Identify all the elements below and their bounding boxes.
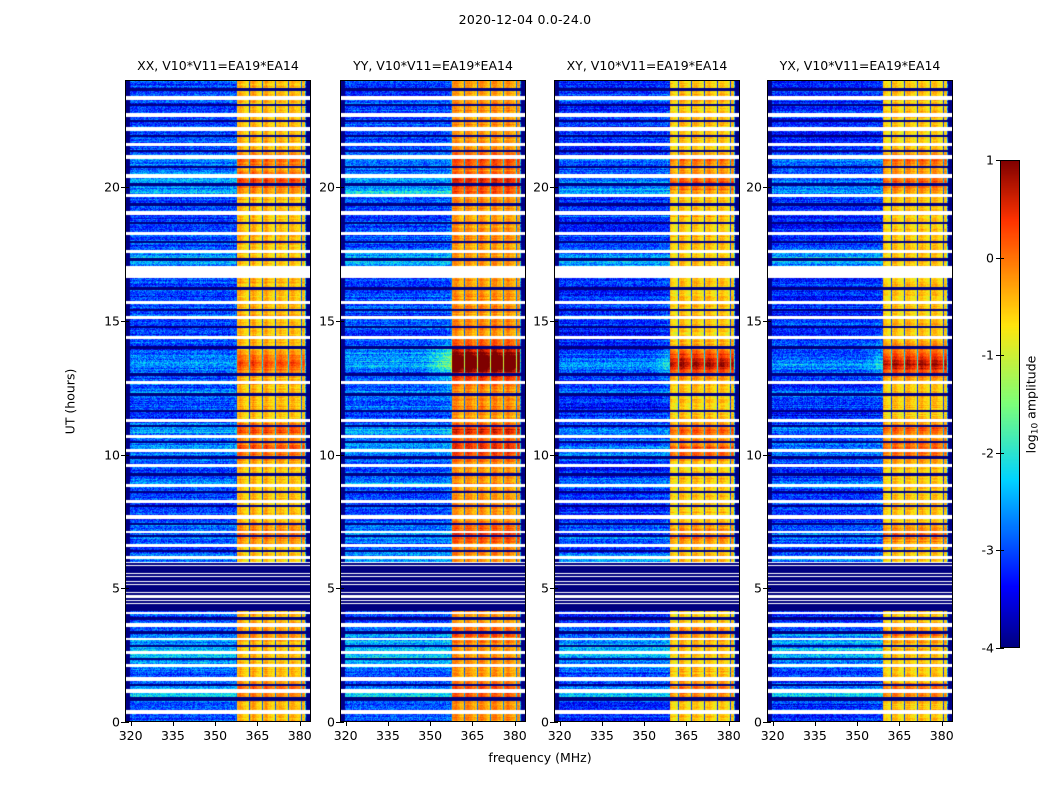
colorbar-tick-mark-inner (1000, 453, 1004, 454)
y-tick-mark-inner (767, 187, 771, 188)
x-tick-label: 365 (675, 728, 699, 743)
y-tick-mark-inner (767, 321, 771, 322)
y-tick-mark-inner (554, 722, 558, 723)
y-tick-mark-inner (125, 588, 129, 589)
heatmap-panel-xy[interactable]: XY, V10*V11=EA19*EA140510152032033535036… (554, 80, 740, 722)
y-tick-label: 15 (319, 313, 335, 328)
y-tick-label: 5 (754, 581, 762, 596)
y-tick-mark-inner (340, 722, 344, 723)
colorbar-tick-mark-inner (1000, 550, 1004, 551)
x-tick-label: 350 (632, 728, 656, 743)
colorbar-tick-label: -1 (982, 348, 994, 363)
y-tick-mark-inner (767, 722, 771, 723)
x-tick-label: 350 (203, 728, 227, 743)
y-tick-mark-inner (340, 455, 344, 456)
x-tick-mark (346, 722, 347, 726)
axes-frame-xy (554, 80, 740, 722)
x-tick-label: 320 (761, 728, 785, 743)
y-tick-label: 5 (112, 581, 120, 596)
x-tick-mark (215, 722, 216, 726)
x-tick-mark (942, 722, 943, 726)
x-tick-mark (472, 722, 473, 726)
x-tick-label: 335 (803, 728, 827, 743)
y-tick-mark-inner (767, 455, 771, 456)
axes-frame-yy (340, 80, 526, 722)
colorbar-tick-label: -3 (982, 543, 994, 558)
y-tick-mark-inner (340, 588, 344, 589)
panel-title-xy: XY, V10*V11=EA19*EA14 (567, 58, 728, 73)
x-tick-mark (773, 722, 774, 726)
y-tick-label: 20 (746, 180, 762, 195)
y-tick-mark-inner (767, 588, 771, 589)
colorbar[interactable]: -4-3-2-101 (1000, 160, 1020, 648)
y-tick-label: 10 (533, 447, 549, 462)
y-tick-label: 15 (104, 313, 120, 328)
x-tick-mark (388, 722, 389, 726)
x-tick-mark (560, 722, 561, 726)
colorbar-label-post: amplitude (1023, 355, 1038, 422)
axes-frame-xx (125, 80, 311, 722)
axes-frame-yx (767, 80, 953, 722)
y-tick-label: 15 (533, 313, 549, 328)
colorbar-tick-label: 0 (986, 250, 994, 265)
x-tick-mark (899, 722, 900, 726)
y-tick-label: 5 (541, 581, 549, 596)
x-tick-label: 320 (548, 728, 572, 743)
y-tick-mark-inner (554, 588, 558, 589)
x-tick-label: 335 (376, 728, 400, 743)
y-tick-mark-inner (554, 187, 558, 188)
x-tick-label: 365 (461, 728, 485, 743)
x-tick-label: 320 (334, 728, 358, 743)
x-tick-label: 365 (246, 728, 270, 743)
colorbar-tick-label: -4 (982, 641, 994, 656)
colorbar-label-subscript: 10 (1030, 422, 1040, 433)
heatmap-panel-xx[interactable]: XX, V10*V11=EA19*EA140510152032033535036… (125, 80, 311, 722)
heatmap-panel-yx[interactable]: YX, V10*V11=EA19*EA140510152032033535036… (767, 80, 953, 722)
x-tick-mark (300, 722, 301, 726)
colorbar-tick-mark-inner (1000, 648, 1004, 649)
y-axis-label: UT (hours) (62, 368, 77, 434)
x-tick-mark (430, 722, 431, 726)
x-tick-mark (515, 722, 516, 726)
colorbar-label: log10 amplitude (1023, 355, 1040, 453)
x-axis-label: frequency (MHz) (488, 750, 591, 765)
x-tick-mark (686, 722, 687, 726)
x-tick-label: 380 (930, 728, 954, 743)
y-tick-label: 10 (319, 447, 335, 462)
heatmap-panel-yy[interactable]: YY, V10*V11=EA19*EA140510152032033535036… (340, 80, 526, 722)
y-tick-mark-inner (125, 722, 129, 723)
colorbar-label-pre: log (1023, 434, 1038, 453)
x-tick-mark (644, 722, 645, 726)
panel-title-xx: XX, V10*V11=EA19*EA14 (137, 58, 299, 73)
x-tick-mark (602, 722, 603, 726)
y-tick-label: 10 (746, 447, 762, 462)
colorbar-tick-mark-inner (1000, 355, 1004, 356)
x-tick-label: 335 (590, 728, 614, 743)
y-tick-label: 15 (746, 313, 762, 328)
x-tick-mark (815, 722, 816, 726)
x-tick-label: 380 (503, 728, 527, 743)
colorbar-tick-mark-inner (1000, 258, 1004, 259)
y-tick-mark-inner (125, 455, 129, 456)
x-tick-mark (257, 722, 258, 726)
colorbar-tick-mark-inner (1000, 160, 1004, 161)
x-tick-mark (857, 722, 858, 726)
y-tick-label: 10 (104, 447, 120, 462)
y-tick-label: 20 (533, 180, 549, 195)
panel-title-yx: YX, V10*V11=EA19*EA14 (780, 58, 941, 73)
panel-title-yy: YY, V10*V11=EA19*EA14 (353, 58, 513, 73)
y-tick-mark-inner (340, 321, 344, 322)
x-tick-mark (173, 722, 174, 726)
y-tick-mark-inner (125, 321, 129, 322)
x-tick-label: 320 (119, 728, 143, 743)
colorbar-tick-label: 1 (986, 153, 994, 168)
x-tick-label: 365 (888, 728, 912, 743)
y-tick-mark-inner (340, 187, 344, 188)
y-tick-mark-inner (554, 321, 558, 322)
colorbar-tick-label: -2 (982, 445, 994, 460)
x-tick-label: 335 (161, 728, 185, 743)
y-tick-mark-inner (125, 187, 129, 188)
y-tick-label: 20 (104, 180, 120, 195)
colorbar-frame (1000, 160, 1020, 648)
x-tick-label: 380 (288, 728, 312, 743)
y-tick-label: 20 (319, 180, 335, 195)
x-tick-mark (131, 722, 132, 726)
figure-canvas: 2020-12-04 0.0-24.0 XX, V10*V11=EA19*EA1… (0, 0, 1050, 800)
x-tick-label: 380 (717, 728, 741, 743)
figure-suptitle: 2020-12-04 0.0-24.0 (0, 12, 1050, 27)
y-tick-label: 5 (327, 581, 335, 596)
x-tick-label: 350 (845, 728, 869, 743)
x-tick-label: 350 (418, 728, 442, 743)
y-tick-mark-inner (554, 455, 558, 456)
x-tick-mark (729, 722, 730, 726)
